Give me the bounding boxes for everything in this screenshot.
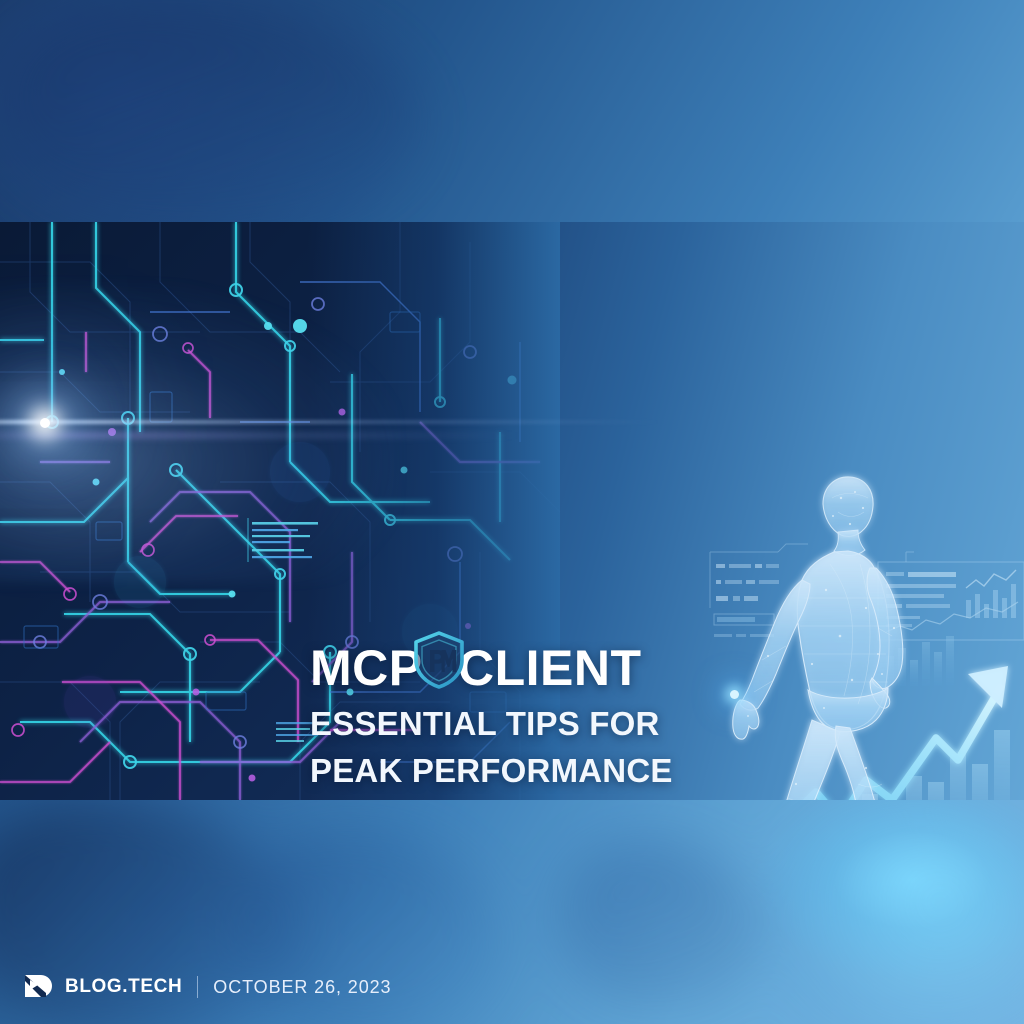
wireframe-human-figure (733, 477, 907, 800)
subheadline-line-2: PEAK PERFORMANCE (310, 753, 730, 790)
title-row: MCP (310, 640, 730, 696)
page-title-secondary: CLIENT (458, 640, 642, 696)
page-title-primary: MCP (310, 643, 423, 693)
footer-bar: BLOG.TECH OCTOBER 26, 2023 (22, 972, 391, 1002)
blur-shape (760, 810, 1024, 1024)
blog-tech-logo-icon (22, 972, 52, 1002)
poster-canvas: MCP (0, 0, 1024, 1024)
headline-block: MCP (310, 640, 730, 800)
subheadline-line-1: ESSENTIAL TIPS FOR (310, 706, 730, 743)
shield-monogram-icon (413, 631, 465, 689)
hologram-group (700, 468, 1024, 800)
blur-shape (560, 840, 760, 1010)
lens-flare-core-icon (40, 418, 50, 428)
lens-flare-streak (0, 420, 660, 424)
banner-panel: MCP (0, 222, 1024, 800)
hand-spark-icon (730, 690, 739, 699)
footer-date: OCTOBER 26, 2023 (213, 977, 391, 998)
footer-divider (197, 976, 198, 998)
lens-flare-streak-secondary (0, 432, 520, 439)
footer-brand-name: BLOG.TECH (65, 976, 182, 998)
blur-shape (0, 0, 420, 230)
